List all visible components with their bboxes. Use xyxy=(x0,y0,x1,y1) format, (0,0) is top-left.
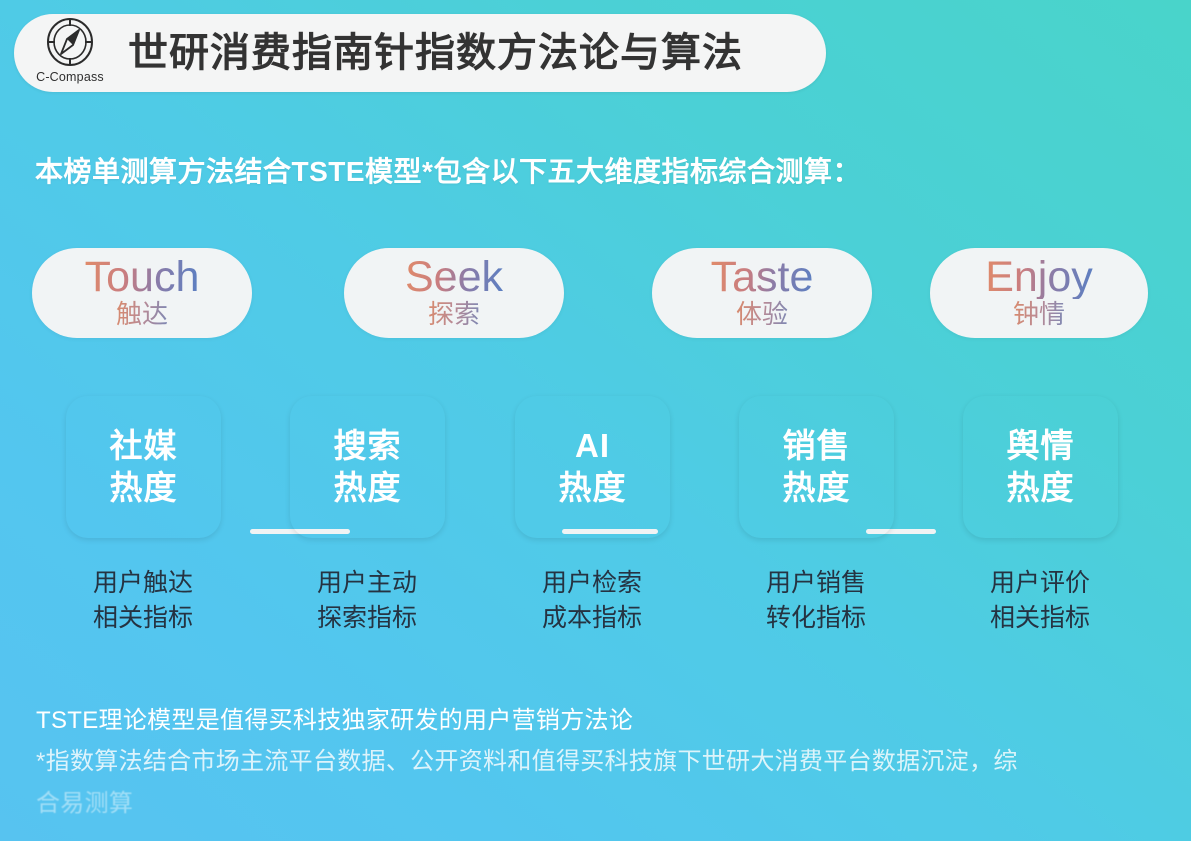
tste-pill-cn: 触达 xyxy=(116,300,168,330)
infographic-page: C-Compass 世研消费指南针指数方法论与算法 本榜单测算方法结合TSTE模… xyxy=(0,0,1191,841)
tste-pill-cn: 钟情 xyxy=(1013,300,1065,330)
compass-icon xyxy=(42,22,98,70)
dimension-caption-social: 用户触达 相关指标 xyxy=(43,566,243,635)
tste-pill-taste[interactable]: Taste 体验 xyxy=(652,248,872,338)
card-line-2: 热度 xyxy=(334,467,402,509)
logo-block: C-Compass xyxy=(14,14,126,92)
caption-line-1: 用户评价 xyxy=(940,566,1140,601)
dimension-card-search[interactable]: 搜索 热度 xyxy=(290,396,445,538)
tste-pill-en: Seek xyxy=(405,256,503,300)
dimension-caption-opinion: 用户评价 相关指标 xyxy=(940,566,1140,635)
tste-pill-enjoy[interactable]: Enjoy 钟情 xyxy=(930,248,1148,338)
dimension-card-ai[interactable]: AI 热度 xyxy=(515,396,670,538)
card-line-1: AI xyxy=(575,425,610,467)
tste-pill-en: Taste xyxy=(711,256,814,300)
card-line-2: 热度 xyxy=(1007,467,1075,509)
page-title: 世研消费指南针指数方法论与算法 xyxy=(126,33,743,73)
footnote-line-1: TSTE理论模型是值得买科技独家研发的用户营销方法论 xyxy=(36,700,1176,741)
card-line-2: 热度 xyxy=(783,467,851,509)
caption-line-2: 成本指标 xyxy=(492,601,692,636)
tste-pill-en: Enjoy xyxy=(985,256,1093,300)
caption-line-1: 用户主动 xyxy=(267,566,467,601)
header-bar: C-Compass 世研消费指南针指数方法论与算法 xyxy=(14,14,826,92)
dimension-caption-sales: 用户销售 转化指标 xyxy=(716,566,916,635)
tste-pill-cn: 体验 xyxy=(736,300,788,330)
dimension-card-sales[interactable]: 销售 热度 xyxy=(739,396,894,538)
footnote-block: TSTE理论模型是值得买科技独家研发的用户营销方法论 *指数算法结合市场主流平台… xyxy=(36,700,1176,824)
tste-pill-en: Touch xyxy=(85,256,200,300)
card-line-2: 热度 xyxy=(559,467,627,509)
card-line-1: 社媒 xyxy=(110,425,178,467)
dimension-card-opinion[interactable]: 舆情 热度 xyxy=(963,396,1118,538)
footnote-line-3: 合易测算 xyxy=(36,783,1176,824)
caption-line-2: 转化指标 xyxy=(716,601,916,636)
card-line-2: 热度 xyxy=(110,467,178,509)
card-line-1: 搜索 xyxy=(334,425,402,467)
caption-line-2: 相关指标 xyxy=(940,601,1140,636)
subtitle-text: 本榜单测算方法结合TSTE模型*包含以下五大维度指标综合测算： xyxy=(35,150,861,190)
tste-model-row: Touch 触达 Seek 探索 Taste 体验 Enjoy 钟情 xyxy=(0,238,1191,346)
dimension-card-row: 社媒 热度 搜索 热度 AI 热度 销售 热度 舆情 热度 xyxy=(0,396,1191,542)
tste-pill-seek[interactable]: Seek 探索 xyxy=(344,248,564,338)
caption-line-1: 用户触达 xyxy=(43,566,243,601)
card-line-1: 销售 xyxy=(783,425,851,467)
caption-line-2: 探索指标 xyxy=(267,601,467,636)
dimension-caption-ai: 用户检索 成本指标 xyxy=(492,566,692,635)
dimension-caption-row: 用户触达 相关指标 用户主动 探索指标 用户检索 成本指标 用户销售 转化指标 … xyxy=(0,566,1191,646)
logo-caption: C-Compass xyxy=(36,70,104,84)
caption-line-2: 相关指标 xyxy=(43,601,243,636)
caption-line-1: 用户检索 xyxy=(492,566,692,601)
dimension-caption-search: 用户主动 探索指标 xyxy=(267,566,467,635)
card-line-1: 舆情 xyxy=(1007,425,1075,467)
tste-pill-cn: 探索 xyxy=(428,300,480,330)
dimension-card-social[interactable]: 社媒 热度 xyxy=(66,396,221,538)
caption-line-1: 用户销售 xyxy=(716,566,916,601)
tste-pill-touch[interactable]: Touch 触达 xyxy=(32,248,252,338)
footnote-line-2: *指数算法结合市场主流平台数据、公开资料和值得买科技旗下世研大消费平台数据沉淀，… xyxy=(36,741,1176,782)
